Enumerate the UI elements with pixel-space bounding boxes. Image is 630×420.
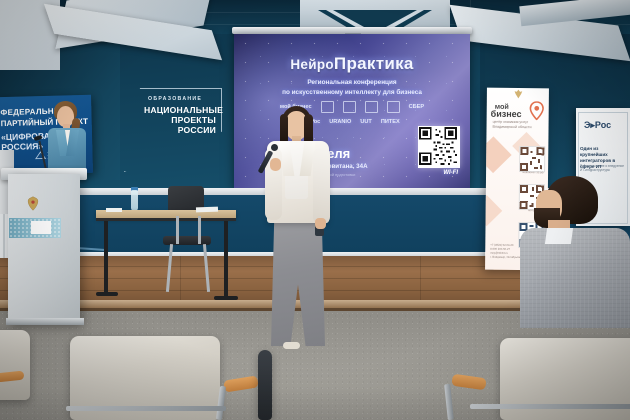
sponsor-logo-uut: UUT bbox=[360, 119, 372, 125]
slide-title: НейроПрактика bbox=[234, 54, 470, 74]
slide-wifi-label: WI-FI bbox=[443, 170, 458, 176]
slide-subtitle: Региональная конференция по искусственно… bbox=[248, 78, 456, 97]
russian-coat-of-arms-icon bbox=[26, 196, 40, 211]
banner-right-subtitle: центр оказания услуг Владимирской област… bbox=[493, 120, 532, 130]
table-foot bbox=[214, 296, 238, 300]
speaker-person bbox=[255, 106, 345, 356]
attendee-collar bbox=[545, 228, 573, 244]
slide-title-part2: Практика bbox=[334, 54, 414, 73]
water-bottle bbox=[131, 190, 138, 211]
slide-subtitle-line1: Региональная конференция bbox=[248, 78, 456, 88]
chair-leg bbox=[176, 216, 179, 244]
qr-code-svg bbox=[419, 127, 457, 165]
podium-graphic-panel bbox=[9, 218, 61, 238]
qr-caption-1: мойбизнес-33.рф bbox=[521, 171, 545, 174]
podium-graphic-mark bbox=[31, 221, 51, 234]
podium-base bbox=[6, 318, 84, 325]
conference-photo-scene: ОБРАЗОВАНИЕ НАЦИОНАЛЬНЫЕ ПРОЕКТЫ РОССИИ … bbox=[0, 0, 630, 420]
podium bbox=[8, 174, 80, 324]
table-leg bbox=[104, 221, 108, 293]
slide-title-part1: Нейро bbox=[290, 57, 334, 72]
speaker-hand-right bbox=[315, 218, 326, 229]
wall-graphic-line3: РОССИИ bbox=[144, 125, 216, 135]
qr-code-wifi bbox=[418, 126, 460, 168]
sponsor-logo-pitech: ПИТЕХ bbox=[381, 119, 400, 125]
qr-code-1 bbox=[519, 146, 545, 172]
stage-table-edge bbox=[96, 218, 236, 221]
speaker-trousers bbox=[271, 218, 325, 346]
attendee-jacket bbox=[520, 228, 630, 328]
speaker-arm-right bbox=[313, 148, 330, 224]
banner-right-title-big: бизнес bbox=[491, 109, 522, 119]
wall-graphic-line2: ПРОЕКТЫ bbox=[144, 115, 216, 125]
wall-graphic-line1: НАЦИОНАЛЬНЫЕ bbox=[144, 105, 216, 115]
table-foot bbox=[96, 292, 118, 296]
wall-graphic-national-projects: ОБРАЗОВАНИЕ НАЦИОНАЛЬНЫЕ ПРОЕКТЫ РОССИИ bbox=[122, 88, 222, 172]
crest-icon bbox=[513, 89, 524, 99]
chair-leg bbox=[198, 216, 201, 244]
jacket-texture bbox=[520, 228, 630, 328]
banner-far-line2: Проектирование и внедрение ИТ-инфраструк… bbox=[580, 164, 627, 173]
wall-graphic-title: НАЦИОНАЛЬНЫЕ ПРОЕКТЫ РОССИИ bbox=[144, 105, 216, 135]
paper-sheet bbox=[106, 208, 122, 212]
location-pin-icon bbox=[529, 101, 545, 120]
star-icon bbox=[387, 101, 400, 113]
speaker-hand-left bbox=[270, 158, 281, 171]
grid-icon bbox=[365, 101, 378, 113]
banner-far-logo: Э▸Рос bbox=[584, 120, 611, 131]
slide-subtitle-line2: по искусственному интеллекту для бизнеса bbox=[248, 88, 456, 98]
table-leg bbox=[224, 221, 228, 297]
speaker-shoe bbox=[283, 342, 300, 349]
microphone-head-icon bbox=[271, 144, 278, 151]
sponsor-logo-sber: СБЕР bbox=[409, 104, 425, 110]
wall-graphic-kicker: ОБРАЗОВАНИЕ bbox=[148, 96, 202, 102]
paper-sheet bbox=[196, 207, 218, 213]
